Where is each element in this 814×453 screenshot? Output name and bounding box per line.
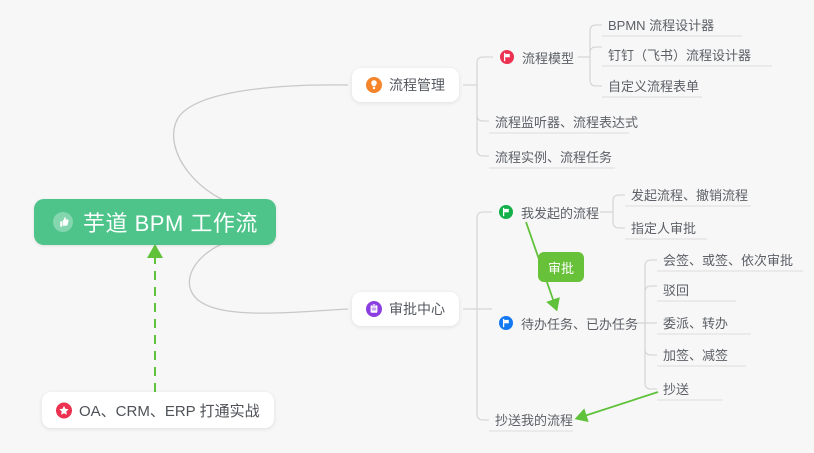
node-label: 自定义流程表单 [608, 76, 699, 95]
link-model-form [590, 57, 602, 86]
root-label: 芋道 BPM 工作流 [83, 206, 258, 238]
link-model-bpmn [590, 25, 602, 57]
link-ac-to-cc [477, 309, 489, 420]
link-pm-to-model [477, 57, 493, 85]
branch-approval-center[interactable]: 审批中心 [352, 292, 459, 326]
node-label: 我发起的流程 [521, 203, 599, 222]
node-dingtalk-feishu-designer[interactable]: 钉钉（飞书）流程设计器 [602, 41, 757, 67]
lightbulb-pin-icon [366, 77, 382, 93]
link-todo-cc [645, 323, 657, 389]
clipboard-icon [366, 301, 382, 317]
link-todo-addsign [645, 323, 657, 355]
node-countersign-orsign-sequential[interactable]: 会签、或签、依次审批 [657, 246, 799, 272]
tag-label: 审批 [548, 258, 574, 277]
star-icon [56, 402, 72, 418]
note-integration[interactable]: OA、CRM、ERP 打通实战 [42, 392, 274, 428]
flag-icon [498, 204, 514, 220]
link-pm-to-instance [477, 85, 489, 156]
node-label: 钉钉（飞书）流程设计器 [608, 45, 751, 64]
node-label: 流程实例、流程任务 [495, 147, 612, 166]
mindmap-canvas: 芋道 BPM 工作流 流程管理 流程模型 BPMN 流程设计器 钉钉（飞书）流程… [0, 0, 814, 453]
link-started-start [613, 195, 625, 212]
node-label: 驳回 [663, 280, 689, 299]
node-label: 抄送我的流程 [495, 410, 573, 429]
link-model-ding [590, 47, 602, 57]
arrow-cc-to-ccprocess [578, 392, 658, 418]
node-carbon-copy[interactable]: 抄送 [657, 375, 695, 401]
node-my-started-processes[interactable]: 我发起的流程 [492, 199, 605, 225]
link-started-assignee [613, 212, 625, 228]
node-label: 加签、减签 [663, 345, 728, 364]
node-process-instance-task[interactable]: 流程实例、流程任务 [489, 143, 618, 169]
node-label: 发起流程、撤销流程 [631, 185, 748, 204]
link-pm-to-listener [477, 85, 489, 121]
node-label: 待办任务、已办任务 [521, 314, 638, 333]
node-label: BPMN 流程设计器 [608, 15, 714, 34]
node-label: 流程监听器、流程表达式 [495, 112, 638, 131]
node-bpmn-designer[interactable]: BPMN 流程设计器 [602, 11, 720, 37]
thumbs-up-icon [52, 211, 74, 233]
node-label: 抄送 [663, 379, 689, 398]
link-root-to-process-management [174, 85, 348, 208]
node-start-cancel-process[interactable]: 发起流程、撤销流程 [625, 181, 754, 207]
node-label: 委派、转办 [663, 313, 728, 332]
node-cc-to-me-processes[interactable]: 抄送我的流程 [489, 406, 579, 432]
node-label: 会签、或签、依次审批 [663, 250, 793, 269]
node-label: 流程模型 [522, 48, 574, 67]
node-todo-done-tasks[interactable]: 待办任务、已办任务 [492, 310, 644, 336]
root-node[interactable]: 芋道 BPM 工作流 [34, 199, 276, 245]
node-process-model[interactable]: 流程模型 [493, 44, 580, 70]
link-todo-reject [645, 286, 657, 323]
branch-process-management[interactable]: 流程管理 [352, 68, 459, 102]
flag-icon [498, 315, 514, 331]
flag-icon [499, 49, 515, 65]
node-assignee-approval[interactable]: 指定人审批 [625, 214, 702, 240]
node-process-listener-expression[interactable]: 流程监听器、流程表达式 [489, 108, 644, 134]
note-label: OA、CRM、ERP 打通实战 [79, 400, 260, 421]
link-todo-countersign [645, 260, 657, 323]
link-root-to-approval-center [189, 236, 348, 313]
node-add-remove-sign[interactable]: 加签、减签 [657, 341, 734, 367]
node-delegate-transfer[interactable]: 委派、转办 [657, 309, 734, 335]
approval-tag[interactable]: 审批 [538, 252, 584, 282]
branch-label: 流程管理 [389, 75, 445, 95]
node-custom-process-form[interactable]: 自定义流程表单 [602, 72, 705, 98]
node-label: 指定人审批 [631, 218, 696, 237]
link-ac-to-started [477, 212, 492, 309]
node-reject[interactable]: 驳回 [657, 276, 695, 302]
branch-label: 审批中心 [389, 299, 445, 319]
